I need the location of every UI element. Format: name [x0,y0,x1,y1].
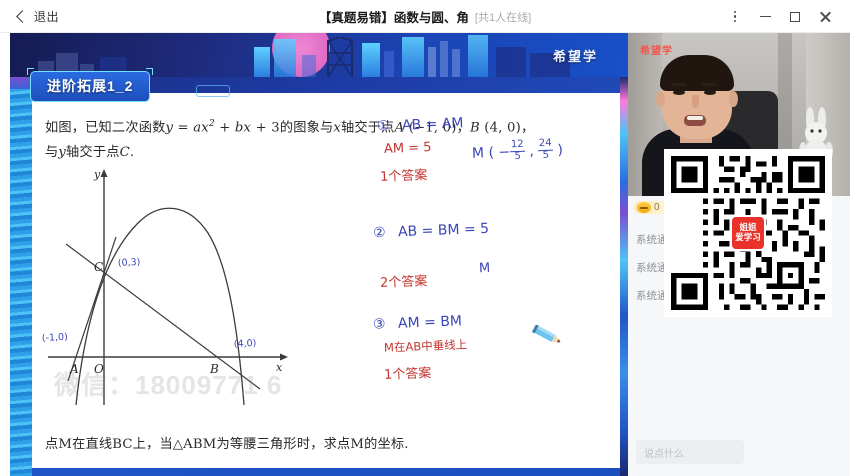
left-decorative-rail [10,77,32,476]
qr-center-label: 姐姐 爱学习 [730,215,766,251]
teacher-ear-right [729,91,738,107]
skyline-building [468,35,488,77]
right-panel: 希望学 0 系统通知: 已切换为全部消息 系统通知: 尊敬的学员你好，有不清楚的… [628,33,850,476]
problem-line2-b: 轴交于点 [66,145,120,160]
chat-input-placeholder: 说点什么 [644,445,684,460]
annotation-M-coordinate: M ( −125 , 245 ) [472,139,564,164]
emoji-reaction-badge[interactable]: 0 [634,201,668,214]
graph-axis-x: x [276,361,283,374]
chat-input[interactable]: 说点什么 [636,440,744,464]
fraction-24-5: 245 [538,139,554,162]
badge-decoration [196,85,230,97]
maximize-icon[interactable] [780,0,810,33]
lesson-badge: 进阶拓展1_2 [30,71,150,102]
problem-line2-c: . [130,145,134,160]
eq-plus-1: + [215,120,235,135]
annotation-6: ③ AM = BM [373,313,463,332]
annotation-4-text: AB = BM = 5 [398,221,490,240]
skyline-building [452,49,460,77]
smiley-icon [637,202,651,213]
annotation-7-text: M在AB中垂线上 [384,337,468,354]
skyline-building [274,39,296,77]
skyline-building [254,47,270,77]
bridge-graphic [322,37,358,77]
skyline-building [302,55,316,77]
teacher-brow-right [702,83,717,86]
exit-label: 退出 [34,8,59,25]
qr-center-line2: 爱学习 [735,233,761,243]
problem-line1-b: 的图象与 [280,120,334,135]
skyline-building [362,43,380,77]
problem-question: 点M在直线BC上，当△ABM为等腰三角形时，求点M的坐标. [45,433,515,452]
annotation-4: ② AB = BM = 5 [373,221,490,241]
graph-axis-y: y [93,168,101,181]
eq-plus-3: + 3 [251,120,280,135]
video-brand-logo: 希望学 [640,42,673,57]
title-bar: 退出 【真题易错】函数与圆、角 [共1人在线] [0,0,850,33]
fraction-12-5: 125 [510,140,526,163]
eq-y-axis: y [58,145,66,160]
annotation-1: ① AB = AM [377,115,464,134]
graph-label-O: O [94,362,104,376]
more-vertical-icon[interactable] [720,0,750,33]
window-controls [720,0,840,33]
graph-annotation-A: (-1,0) [42,332,68,344]
teacher-ear-left [656,91,665,107]
eq-y: y [166,120,174,135]
teacher-mouth [684,115,706,126]
graph-annotation-C: (0,3) [118,257,141,269]
skyline-building [496,47,526,77]
pencil-icon[interactable] [532,325,566,347]
annotation-1-text: AB = AM [402,115,464,133]
graph-label-C: C [94,260,103,274]
eq-b: b [235,120,244,135]
annotation-4-marker: ② [373,225,386,241]
exit-button[interactable]: 退出 [18,8,59,25]
annotation-5: 2个答案 [380,270,428,291]
teacher-eye-right [704,90,716,95]
annotation-8-text: 1个答案 [384,366,432,383]
page-title: 【真题易错】函数与圆、角 [319,7,469,26]
annotation-3: 1个答案 [380,164,428,185]
annotation-1-marker: ① [377,118,390,134]
rail-cap [10,77,32,89]
online-count: [共1人在线] [475,9,531,25]
lesson-stage: 希望学 进阶拓展1_2 如图，已知二次函数y = ax2 + bx + 3的图象… [0,33,628,476]
chevron-left-icon [16,10,29,23]
annotation-5-text: 2个答案 [380,274,428,291]
teacher-nose [692,95,699,108]
teacher-brow-left [671,83,686,86]
point-B-coord: (4, 0)， [480,120,534,135]
point-B: B [470,120,480,135]
close-icon[interactable] [810,0,840,33]
annotation-3-text: 1个答案 [380,168,428,185]
graph-label-B: B [209,362,219,376]
right-decorative-rail [620,77,628,476]
annotation-M-comma: , [525,143,539,160]
skyline-building [440,41,448,77]
annotation-M-tail: ) [553,142,564,158]
annotation-6-text: AM = BM [398,313,463,331]
annotation-7: M在AB中垂线上 [384,336,468,355]
cursor-letter: M [479,261,491,276]
qr-code-card: 姐姐 爱学习 [664,149,832,317]
problem-line2-a: 与 [45,145,58,160]
eq-x: x [201,120,209,135]
skyline-building [428,47,436,77]
annotation-8: 1个答案 [384,362,432,383]
emoji-count: 0 [654,202,660,213]
graph-label-A: A [69,362,79,376]
minimize-icon[interactable] [750,0,780,33]
graph-annotation-B: (4,0) [234,338,257,350]
skyline-building [384,51,394,77]
annotation-2: AM = 5 [384,140,432,157]
brand-logo: 希望学 [553,46,598,65]
teacher-eye-left [673,90,685,95]
annotation-M-lead: M ( − [472,144,511,161]
annotation-6-marker: ③ [373,316,386,332]
skyline-building [402,37,424,77]
point-C: C [120,145,130,160]
problem-line1-a: 如图，已知二次函数 [45,120,166,135]
coordinate-graph: C A O B x y (0,3) (-1,0) (4,0) [38,161,338,411]
eq-x-axis: x [333,120,341,135]
annotation-2-text: AM = 5 [384,140,432,157]
eq-equals: = [173,120,193,135]
whiteboard[interactable]: 如图，已知二次函数y = ax2 + bx + 3的图象与x轴交于点A (−1,… [32,93,620,468]
